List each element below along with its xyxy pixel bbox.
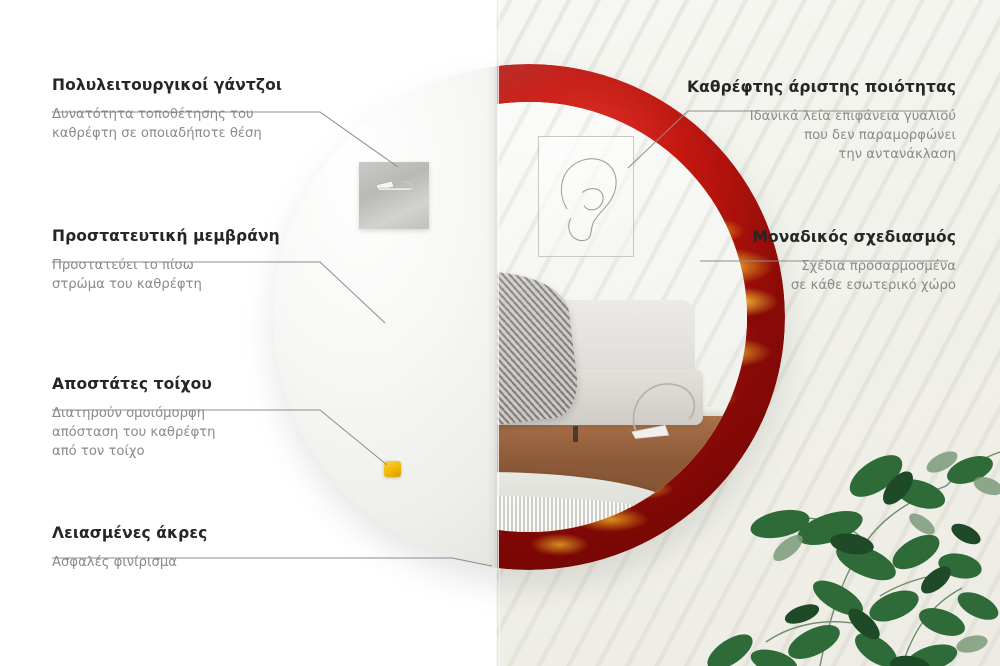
abstract-line-art-icon: [538, 136, 634, 256]
mirror-back-panel: [273, 64, 497, 570]
callout-title: Μοναδικός σχεδιασμός: [752, 228, 956, 247]
callout-description: Ιδανικά λεία επιφάνεια γυαλιού που δεν π…: [687, 107, 956, 164]
callout-description: Ασφαλές φινίρισμα: [52, 553, 207, 572]
callout-title: Προστατευτική μεμβράνη: [52, 227, 280, 246]
decorative-foliage: [670, 366, 1000, 666]
callout-quality: Καθρέφτης άριστης ποιότητας Ιδανικά λεία…: [687, 78, 956, 164]
callout-title: Αποστάτες τοίχου: [52, 375, 215, 394]
wall-hook-icon: [359, 162, 429, 229]
callout-spacers: Αποστάτες τοίχου Διατηρούν ομοιόμορφη απ…: [52, 375, 215, 461]
callout-title: Λειασμένες άκρες: [52, 524, 207, 543]
callout-edges: Λειασμένες άκρες Ασφαλές φινίρισμα: [52, 524, 207, 572]
callout-title: Πολυλειτουργικοί γάντζοι: [52, 76, 282, 95]
infographic-canvas: Πολυλειτουργικοί γάντζοι Δυνατότητα τοπο…: [0, 0, 1000, 666]
reflection-sofa-leg: [573, 426, 578, 442]
callout-description: Σχέδια προσαρμοσμένα σε κάθε εσωτερικό χ…: [752, 257, 956, 295]
callout-hooks: Πολυλειτουργικοί γάντζοι Δυνατότητα τοπο…: [52, 76, 282, 143]
callout-title: Καθρέφτης άριστης ποιότητας: [687, 78, 956, 97]
mirror-half-split-seam: [495, 64, 499, 570]
callout-membrane: Προστατευτική μεμβράνη Προστατεύει το πί…: [52, 227, 280, 294]
callout-description: Δυνατότητα τοποθέτησης του καθρέφτη σε ο…: [52, 105, 282, 143]
callout-description: Διατηρούν ομοιόμορφη απόσταση του καθρέφ…: [52, 404, 215, 461]
callout-description: Προστατεύει το πίσω στρώμα του καθρέφτη: [52, 256, 280, 294]
wall-spacer-icon: [384, 461, 401, 477]
callout-design: Μοναδικός σχεδιασμός Σχέδια προσαρμοσμέν…: [752, 228, 956, 295]
